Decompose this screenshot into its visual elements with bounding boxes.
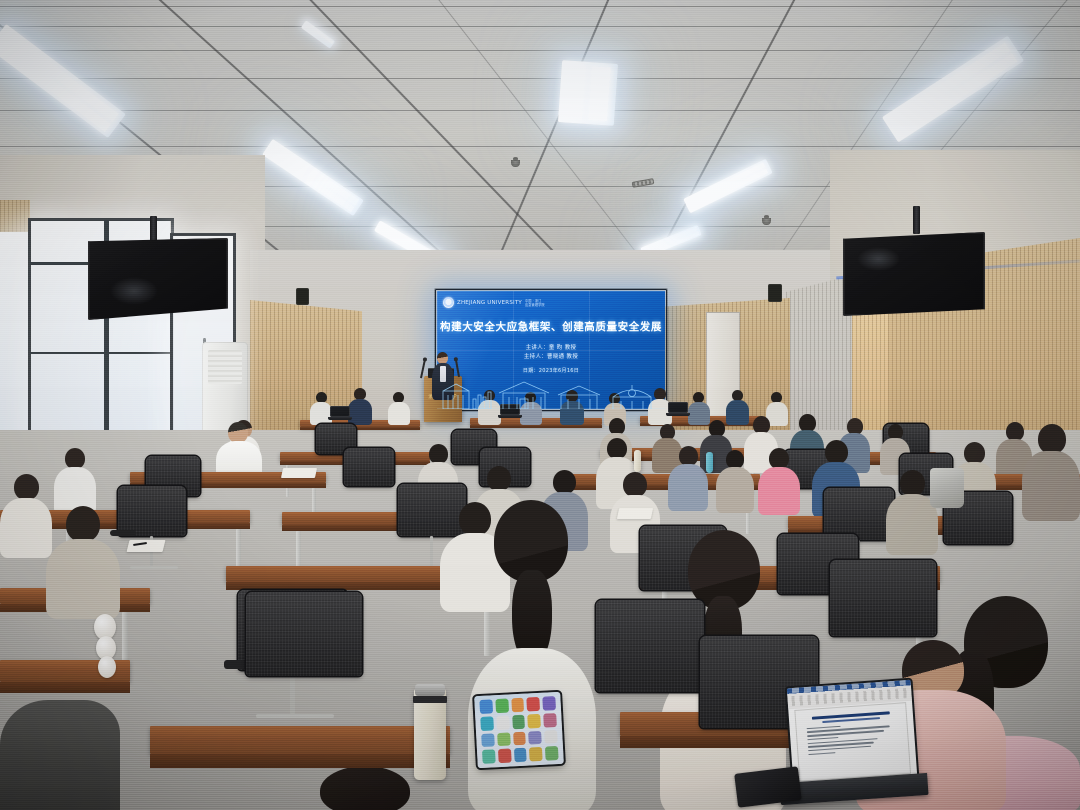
desk-edge [0,682,130,693]
presentation-screen[interactable]: ZHEJIANG UNIVERSITY 中国 · 浙江 应急管理学院 构建大安全… [437,291,665,409]
plush-charm [98,656,116,678]
tv-mount-right [913,206,920,234]
app-icon[interactable] [513,731,526,746]
ceiling-light [558,60,618,126]
app-icon[interactable] [528,730,541,745]
attendee-bottom-left [0,700,120,810]
app-icon[interactable] [528,713,541,728]
wall-display-right[interactable] [843,232,985,316]
sprinkler-head [762,218,771,225]
water-bottle [634,450,641,472]
slide-date: 日期：2023年6月16日 [437,367,665,374]
document-page [796,703,910,781]
attendee [0,474,52,556]
slide-title: 构建大安全大应急框架、创建高质量安全发展 [437,319,665,334]
laptop [330,406,350,420]
app-icon[interactable] [545,746,558,761]
app-icon[interactable] [514,748,527,763]
water-bottle [706,452,713,473]
lecture-hall-photo: ZHEJIANG UNIVERSITY 中国 · 浙江 应急管理学院 构建大安全… [0,0,1080,810]
app-icon[interactable] [498,749,511,764]
app-icon[interactable] [527,696,540,711]
ceiling-light [0,24,126,138]
attendee [668,446,708,510]
note-paper [281,468,317,478]
attendee-pink-shirt [758,448,800,514]
handbag [930,468,964,508]
app-icon[interactable] [529,747,542,762]
ceiling-light [301,20,335,48]
wall-speaker [296,288,309,305]
attendee [54,448,96,514]
app-icon[interactable] [482,750,495,765]
window-mullion [30,352,172,354]
wall-speaker [768,284,782,302]
app-icon[interactable] [512,714,525,729]
app-icon[interactable] [544,730,557,745]
bottle-collar [413,696,447,703]
slide-speakers: 主讲人：童 昀 教授 主持人：曹晓通 教授 [437,344,665,362]
sprinkler-head [511,160,520,167]
university-sub-line2: 应急管理学院 [525,303,545,307]
desk-edge [150,754,450,768]
app-icon[interactable] [542,696,555,711]
app-icon[interactable] [543,713,556,728]
app-icon[interactable] [497,732,510,747]
desk-edge [470,425,602,428]
app-icon[interactable] [496,715,509,730]
app-icon[interactable] [495,698,508,713]
university-name: ZHEJIANG UNIVERSITY [457,300,522,306]
attendee [1022,424,1080,520]
wall-display-left[interactable] [88,238,228,320]
attendee-bottom-center [300,766,430,810]
attendee [46,506,120,616]
university-emblem-icon [443,297,454,308]
slide-host-line: 主讲人：童 昀 教授 [437,344,665,353]
campus-skyline-graphic [437,375,665,409]
app-icon[interactable] [511,697,524,712]
ceiling-light [882,36,1024,143]
laptop-word-document[interactable] [787,680,917,784]
university-logo: ZHEJIANG UNIVERSITY 中国 · 浙江 应急管理学院 [443,297,545,308]
ceiling-light [262,139,364,216]
app-icon-grid [480,696,559,765]
bottle-cap [415,684,445,696]
app-icon[interactable] [481,733,494,748]
attendee [388,392,410,424]
desk-foreground [150,726,450,754]
app-icon[interactable] [480,699,493,714]
tablet-home-screen[interactable] [474,692,564,768]
laptop [668,402,688,416]
note-paper [617,508,653,519]
app-icon[interactable] [480,716,493,731]
slide-moderator-line: 主持人：曹晓通 教授 [437,353,665,362]
attendee [716,450,754,512]
